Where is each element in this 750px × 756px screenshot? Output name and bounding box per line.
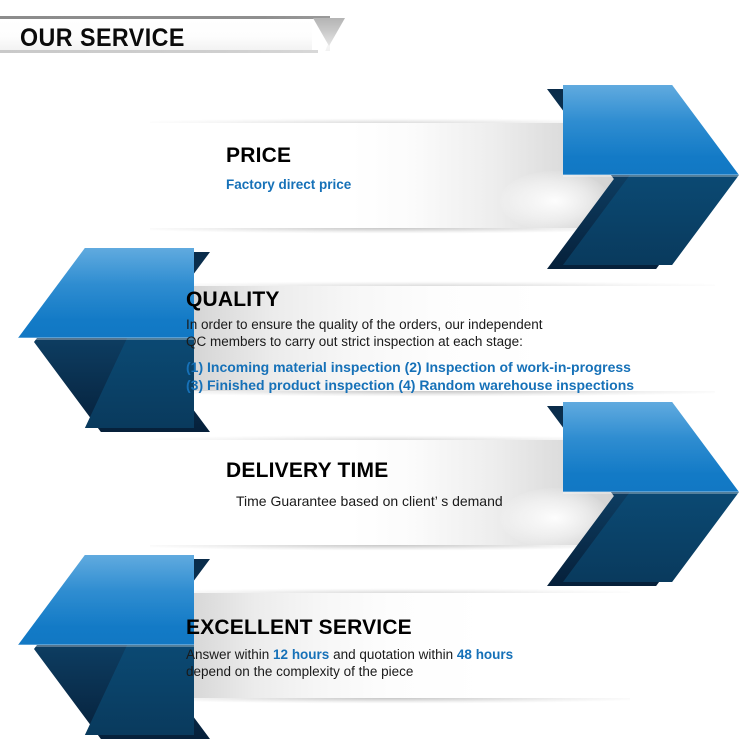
service-infographic: OUR SERVICE PRICE Factory direct price (0, 0, 750, 756)
price-line-1: Factory direct price (226, 176, 351, 193)
quality-line-1: In order to ensure the quality of the or… (186, 316, 634, 333)
service-arrow-left-icon (18, 555, 194, 735)
quality-line-4: (3) Finished product inspection (4) Rand… (186, 376, 634, 394)
service-band-top-shadow (150, 587, 630, 593)
service-line-1: Answer within 12 hours and quotation wit… (186, 646, 513, 663)
service-band-bottom-shadow (150, 698, 630, 705)
section-price: PRICE Factory direct price (0, 85, 750, 265)
price-band (150, 123, 630, 228)
price-heading: PRICE (226, 145, 351, 167)
section-excellent-service: EXCELLENT SERVICE Answer within 12 hours… (0, 555, 750, 735)
section-quality: QUALITY In order to ensure the quality o… (0, 248, 750, 428)
page-title: OUR SERVICE (20, 24, 185, 53)
delivery-text-block: DELIVERY TIME Time Guarantee based on cl… (226, 460, 503, 511)
service-line-2: depend on the complexity of the piece (186, 663, 513, 680)
price-band-bottom-shadow (150, 228, 630, 235)
delivery-line-1: Time Guarantee based on client’ s demand (236, 493, 503, 511)
quality-line-3: (1) Incoming material inspection (2) Ins… (186, 358, 634, 376)
price-text-block: PRICE Factory direct price (226, 145, 351, 193)
price-arrow-right-icon (563, 85, 739, 265)
delivery-band-bottom-shadow (150, 545, 630, 552)
quality-arrow-left-icon (18, 248, 194, 428)
delivery-heading: DELIVERY TIME (226, 460, 503, 482)
quality-line-2: QC members to carry out strict inspectio… (186, 333, 634, 350)
service-heading: EXCELLENT SERVICE (186, 617, 513, 639)
quality-band-top-shadow (150, 280, 715, 286)
header-banner: OUR SERVICE (0, 10, 750, 62)
delivery-band-top-shadow (150, 434, 630, 440)
price-band-top-shadow (150, 117, 630, 123)
quality-text-block: QUALITY In order to ensure the quality o… (186, 289, 634, 395)
quality-heading: QUALITY (186, 289, 634, 311)
service-text-block: EXCELLENT SERVICE Answer within 12 hours… (186, 617, 513, 681)
